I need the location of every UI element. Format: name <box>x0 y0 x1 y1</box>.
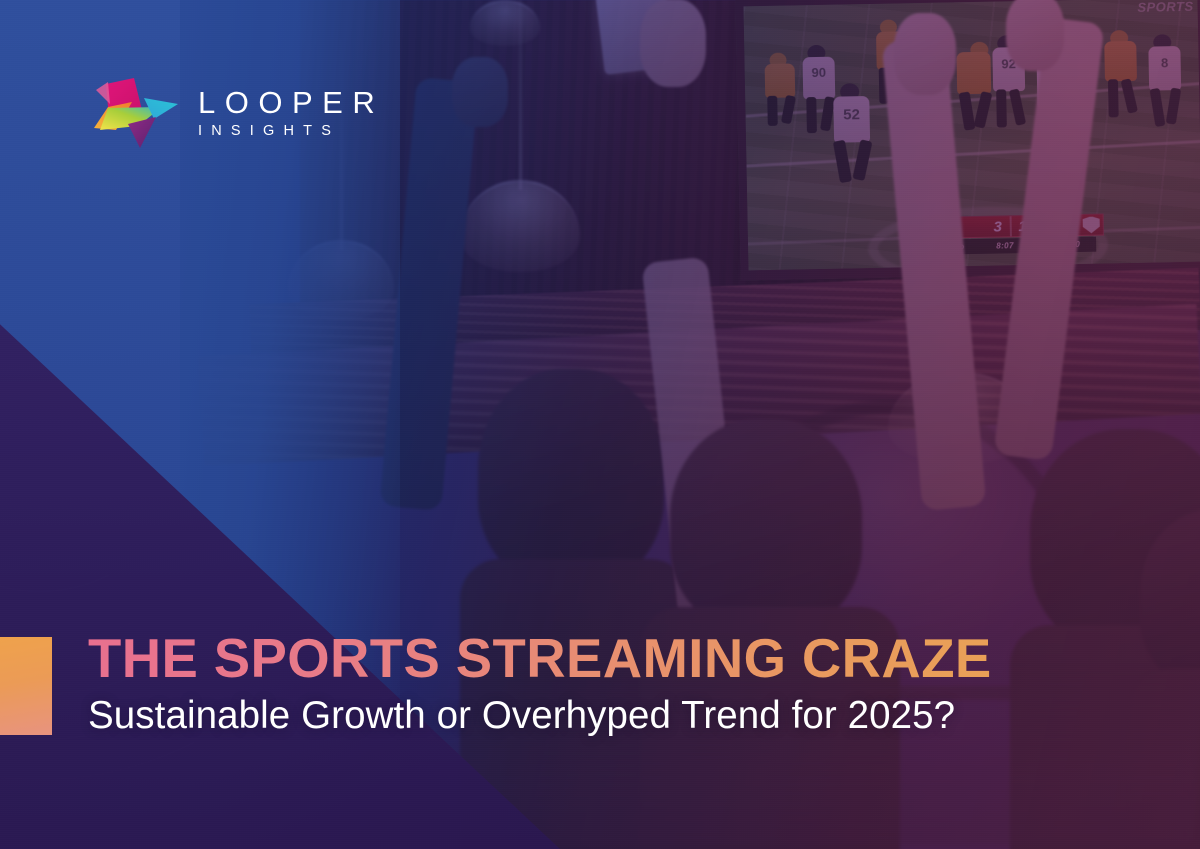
brand-name-primary: LOOPER <box>198 87 384 118</box>
title-accent-bar <box>0 637 52 735</box>
brand-wordmark: LOOPER INSIGHTS <box>198 84 384 139</box>
page-title: THE SPORTS STREAMING CRAZE <box>88 631 1148 687</box>
looper-triangle-mark-icon <box>94 74 178 148</box>
cover-poster: 90 52 92 <box>0 0 1200 849</box>
page-subtitle: Sustainable Growth or Overhyped Trend fo… <box>88 692 1168 740</box>
brand-name-secondary: INSIGHTS <box>198 124 384 139</box>
brand-logo[interactable]: LOOPER INSIGHTS <box>94 74 384 148</box>
